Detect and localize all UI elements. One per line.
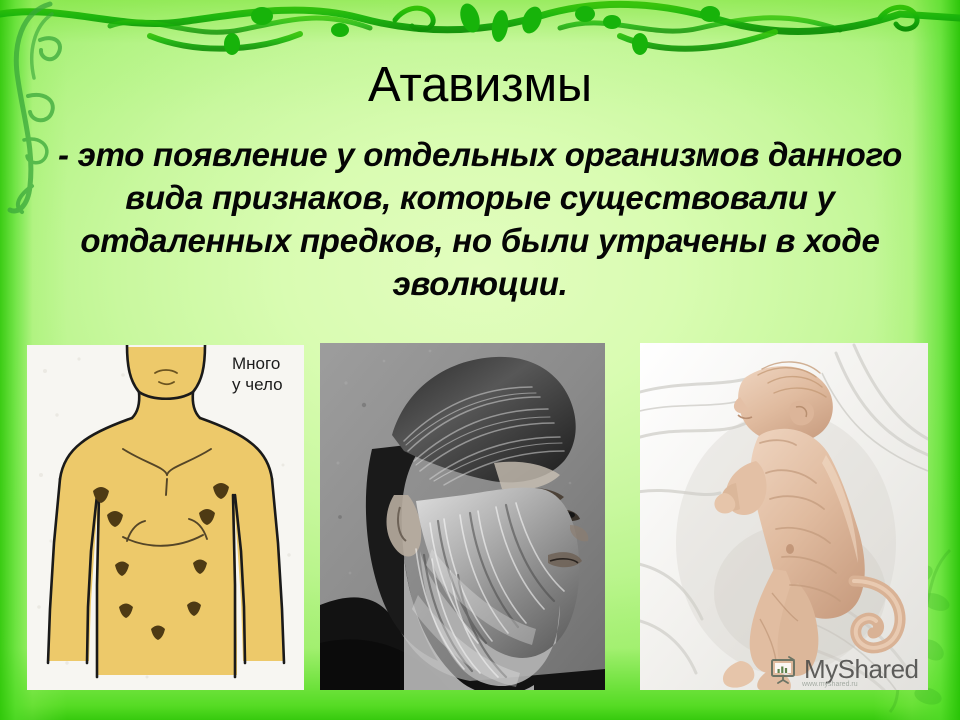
slide-body-text: - это появление у отдельных организмов д… (48, 134, 912, 306)
figure-polymastia-diagram: Много у чело (27, 345, 304, 690)
slide-title: Атавизмы (0, 60, 960, 111)
figure-caption-line1: Много (232, 354, 280, 373)
figure-hypertrichosis-photo (320, 343, 605, 690)
watermark-text: MyShared (804, 656, 919, 682)
presentation-board-icon (768, 654, 798, 684)
figure-caption-line2: у чело (232, 375, 283, 394)
myshared-watermark: MyShared www.myshared.ru (768, 654, 919, 684)
watermark-subtext: www.myshared.ru (802, 681, 858, 688)
figure-vestigial-tail-photo: MyShared www.myshared.ru (640, 343, 928, 690)
slide: Атавизмы - это появление у отдельных орг… (0, 0, 960, 720)
